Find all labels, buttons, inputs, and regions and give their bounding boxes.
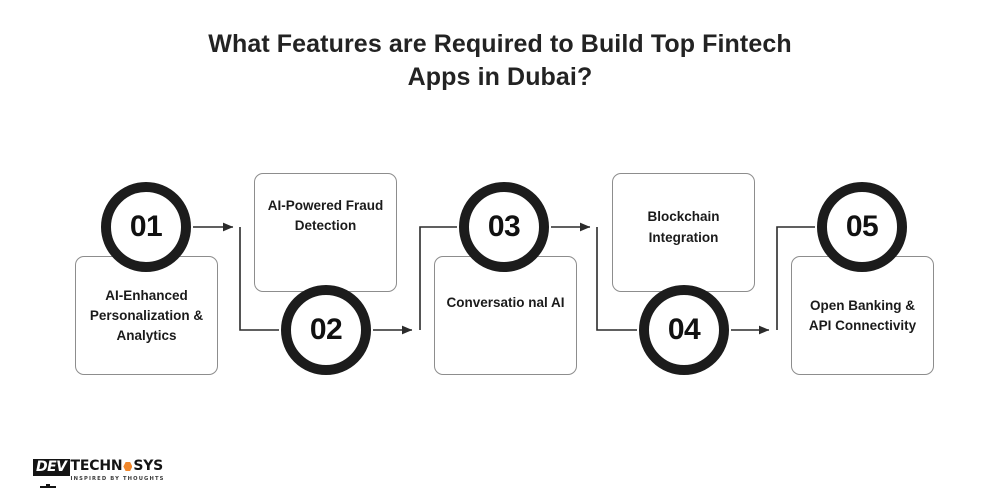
step-box-blockchain-integration[interactable]: Blockchain Integration	[612, 173, 755, 292]
step-number-badge-03[interactable]: 03	[459, 182, 549, 272]
step-number-badge-01[interactable]: 01	[101, 182, 191, 272]
step-number-label: 03	[488, 210, 520, 244]
step-box-label: AI-Powered Fraud Detection	[265, 196, 386, 236]
step-box-label: Open Banking & API Connectivity	[802, 296, 923, 336]
step-number-label: 05	[846, 210, 878, 244]
step-box-ai-powered-fraud-detection[interactable]: AI-Powered Fraud Detection	[254, 173, 397, 292]
brand-logo-row: DEV TECHN SYS INSPIRED BY THOUGHTS	[33, 459, 165, 483]
brand-logo-word-right: SYS	[133, 459, 163, 474]
brand-logo: DEV TECHN SYS INSPIRED BY THOUGHTS	[33, 459, 165, 489]
step-box-open-banking-api-connectivity[interactable]: Open Banking & API Connectivity	[791, 256, 934, 375]
step-box-conversational-ai[interactable]: Conversatio nal AI	[434, 256, 577, 375]
step-number-badge-05[interactable]: 05	[817, 182, 907, 272]
step-number-badge-02[interactable]: 02	[281, 285, 371, 375]
step-number-badge-04[interactable]: 04	[639, 285, 729, 375]
step-number-label: 02	[310, 313, 342, 347]
brand-logo-tagline: INSPIRED BY THOUGHTS	[71, 475, 165, 483]
brand-logo-word-left: TECHN	[71, 459, 123, 474]
monitor-stand-icon	[39, 484, 57, 488]
step-box-ai-enhanced-personalization[interactable]: AI-Enhanced Personalization & Analytics	[75, 256, 218, 375]
step-number-label: 01	[130, 210, 162, 244]
infographic-canvas: What Features are Required to Build Top …	[0, 0, 1000, 500]
brand-logo-text: TECHN SYS INSPIRED BY THOUGHTS	[71, 459, 165, 483]
step-number-label: 04	[668, 313, 700, 347]
brand-logo-wordmark: TECHN SYS	[71, 459, 165, 474]
step-box-label: AI-Enhanced Personalization & Analytics	[86, 286, 207, 346]
step-box-label: Conversatio nal AI	[445, 293, 566, 313]
brand-logo-mark: DEV	[33, 459, 70, 476]
step-box-label: Blockchain Integration	[623, 206, 744, 248]
hexagon-icon	[123, 462, 132, 471]
